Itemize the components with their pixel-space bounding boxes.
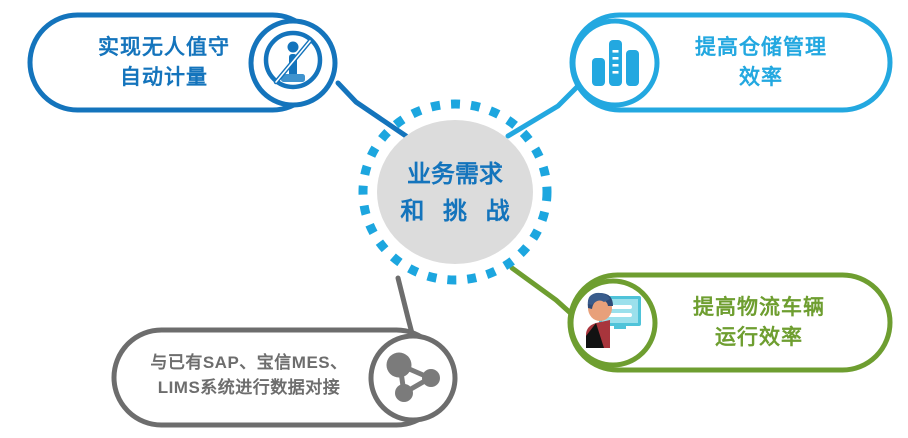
center-node-fill <box>377 120 533 264</box>
connector-logistics <box>512 268 576 318</box>
node-integration-icon-circle <box>371 336 455 420</box>
connector-unattended <box>338 83 406 136</box>
node-integration[interactable] <box>114 330 455 425</box>
mind-map-diagram: 实现无人值守 自动计量 提高仓储管理 效率 提高物流车辆 运行效率 与已有SAP… <box>0 0 908 438</box>
node-warehouse[interactable] <box>572 15 890 110</box>
connector-warehouse <box>508 86 578 136</box>
node-unattended[interactable] <box>30 15 335 110</box>
diagram-canvas <box>0 0 908 438</box>
node-logistics[interactable] <box>570 275 890 370</box>
